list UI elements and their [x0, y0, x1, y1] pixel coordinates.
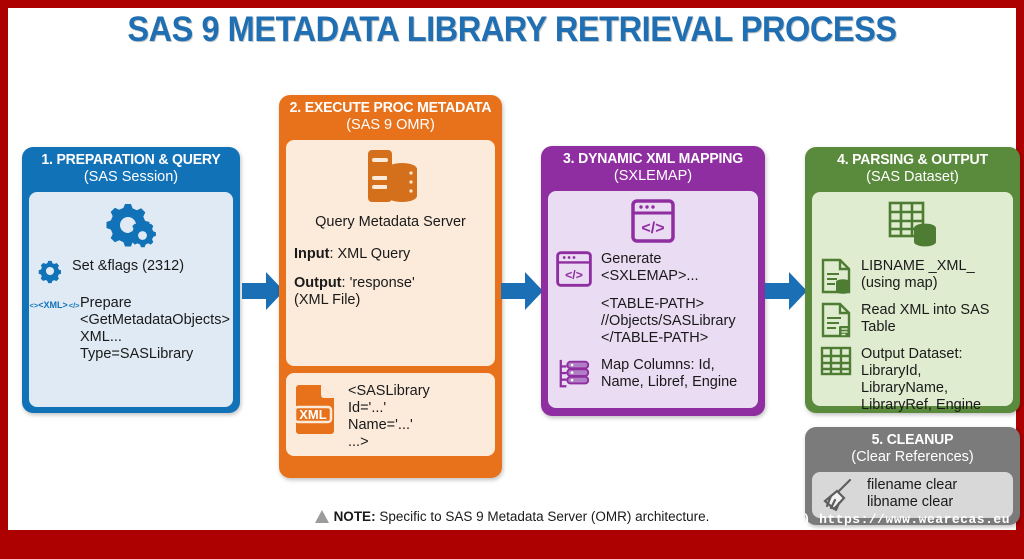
panel-2-output-key: Output: [294, 275, 342, 291]
list-item-label: Generate <SXLEMAP>...: [601, 251, 699, 285]
note-label: NOTE:: [334, 509, 376, 524]
code-window-icon: </>: [556, 199, 750, 243]
panel-1-body: Set &flags (2312) <><XML></> Prepare <Ge…: [29, 192, 233, 407]
arrow-1-to-2: [242, 272, 284, 310]
xml-file-icon: XML: [294, 383, 339, 435]
warning-triangle-icon: [315, 510, 329, 526]
list-item-label: LIBNAME _XML_ (using map): [861, 258, 975, 292]
panel-3-subtitle: (SXLEMAP): [545, 169, 761, 185]
panel-5-subtitle: (Clear References): [809, 450, 1016, 466]
broom-icon: [820, 477, 858, 513]
panel-4-subtitle: (SAS Dataset): [809, 170, 1016, 186]
panel-2-input: Input: XML Query: [294, 246, 487, 263]
panel-4-title: 4. PARSING & OUTPUT: [812, 153, 1013, 169]
document-xml-icon: [820, 302, 852, 338]
image-frame: SAS 9 METADATA LIBRARY RETRIEVAL PROCESS…: [0, 0, 1024, 559]
list-item: Map Columns: Id, Name, Libref, Engine: [556, 357, 750, 391]
panel-preparation-query: 1. PREPARATION & QUERY (SAS Session): [22, 147, 240, 413]
panel-2-output: Output: 'response' (XML File): [294, 275, 487, 310]
svg-text:</>: </>: [565, 268, 583, 282]
panel-4-header: 4. PARSING & OUTPUT (SAS Dataset): [805, 147, 1020, 192]
page-title: SAS 9 METADATA LIBRARY RETRIEVAL PROCESS: [43, 10, 980, 50]
list-item-label: Read XML into SAS Table: [861, 302, 989, 336]
document-database-icon: [820, 258, 852, 294]
table-grid-icon: [820, 346, 852, 376]
panel-3-header: 3. DYNAMIC XML MAPPING (SXLEMAP): [541, 146, 765, 191]
svg-text:</>: </>: [641, 220, 664, 237]
list-item-label: <TABLE-PATH> //Objects/SASLibrary </TABL…: [601, 296, 736, 346]
arrow-3-to-4: [765, 272, 807, 310]
panel-1-subtitle: (SAS Session): [26, 170, 236, 186]
panel-dynamic-xml-mapping: 3. DYNAMIC XML MAPPING (SXLEMAP) </>: [541, 146, 765, 416]
code-window-icon: </>: [556, 251, 592, 287]
panel-1-header: 1. PREPARATION & QUERY (SAS Session): [22, 147, 240, 192]
list-item: </> Generate <SXLEMAP>...: [556, 251, 750, 287]
panel-2-title: 2. EXECUTE PROC METADATA: [286, 101, 495, 117]
panel-3-body: </> </> Generate <SXLEMA: [548, 191, 758, 408]
svg-text:XML: XML: [299, 407, 327, 422]
list-item-label: Map Columns: Id, Name, Libref, Engine: [601, 357, 737, 391]
list-item: Read XML into SAS Table: [820, 302, 1005, 338]
list-item: <><XML></> Prepare <GetMetadataObjects> …: [37, 298, 225, 362]
xml-code-icon: <><XML></>: [37, 298, 71, 311]
panel-2-input-key: Input: [294, 246, 329, 262]
panel-5-header: 5. CLEANUP (Clear References): [805, 427, 1020, 472]
diagram-canvas: SAS 9 METADATA LIBRARY RETRIEVAL PROCESS…: [8, 8, 1016, 530]
panel-2-subbox: XML <SASLibrary Id='...' Name='...' ...>: [286, 373, 495, 456]
panel-3-title: 3. DYNAMIC XML MAPPING: [548, 152, 758, 168]
panel-5-title: 5. CLEANUP: [812, 433, 1013, 449]
list-item-label: Set &flags (2312): [72, 258, 184, 275]
table-database-icon: [820, 200, 1005, 250]
panel-2-subtitle: (SAS 9 OMR): [283, 118, 498, 134]
panel-parsing-output: 4. PARSING & OUTPUT (SAS Dataset): [805, 147, 1020, 413]
panel-2-body: Query Metadata Server Input: XML Query O…: [286, 140, 495, 366]
list-item-label: Output Dataset: LibraryId, LibraryName, …: [861, 346, 981, 413]
hierarchy-list-icon: [556, 357, 592, 391]
panel-4-body: LIBNAME _XML_ (using map): [812, 192, 1013, 406]
list-item: filename clear libname clear: [820, 477, 1005, 513]
list-item: LIBNAME _XML_ (using map): [820, 258, 1005, 294]
arrow-2-to-3: [501, 272, 543, 310]
panel-execute-proc-metadata: 2. EXECUTE PROC METADATA (SAS 9 OMR): [279, 95, 502, 478]
list-item: Output Dataset: LibraryId, LibraryName, …: [820, 346, 1005, 413]
note-text: Specific to SAS 9 Metadata Server (OMR) …: [376, 509, 710, 524]
gears-icon: [37, 200, 225, 250]
list-item: Set &flags (2312): [37, 258, 225, 284]
gear-icon: [37, 258, 63, 284]
list-item: XML <SASLibrary Id='...' Name='...' ...>: [294, 383, 487, 450]
watermark: (c) https://www.wearecas.eu: [786, 512, 1010, 527]
list-item-label: Prepare <GetMetadataObjects> XML... Type…: [80, 295, 230, 362]
panel-1-title: 1. PREPARATION & QUERY: [29, 153, 233, 169]
list-item-label: filename clear libname clear: [867, 477, 957, 511]
server-database-icon: [294, 148, 487, 206]
panel-2-input-value: XML Query: [338, 246, 411, 262]
panel-2-header: 2. EXECUTE PROC METADATA (SAS 9 OMR): [279, 95, 502, 140]
list-item-label: <SASLibrary Id='...' Name='...' ...>: [348, 383, 430, 450]
panel-2-caption: Query Metadata Server: [294, 214, 487, 230]
list-item: <TABLE-PATH> //Objects/SASLibrary </TABL…: [556, 296, 750, 346]
